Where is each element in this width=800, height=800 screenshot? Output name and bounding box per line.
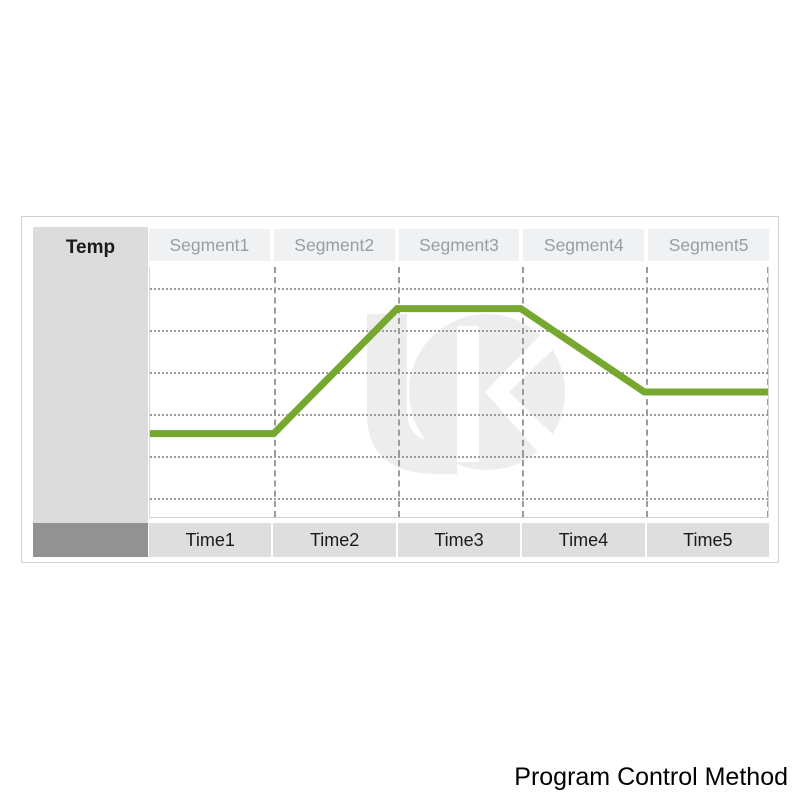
segment-header-cell-1[interactable]: Segment1 bbox=[149, 229, 270, 261]
program-control-chart-panel: Temp Segment1 Segment2 Segment3 Segment4… bbox=[21, 216, 779, 563]
temp-axis-label: Temp bbox=[33, 227, 148, 269]
segment-header-cell-3[interactable]: Segment3 bbox=[399, 229, 520, 261]
temp-axis-column: Temp bbox=[33, 227, 148, 533]
time-footer-row: Time1 Time2 Time3 Time4 Time5 bbox=[149, 523, 769, 557]
time-cell-5[interactable]: Time5 bbox=[647, 523, 769, 557]
time-cell-1[interactable]: Time1 bbox=[149, 523, 273, 557]
time-cell-2[interactable]: Time2 bbox=[273, 523, 397, 557]
time-cell-4[interactable]: Time4 bbox=[522, 523, 646, 557]
segment-header-cell-4[interactable]: Segment4 bbox=[523, 229, 644, 261]
temperature-profile-line bbox=[150, 267, 768, 517]
chart-plot-area bbox=[149, 267, 769, 518]
time-cell-3[interactable]: Time3 bbox=[398, 523, 522, 557]
segment-header-cell-5[interactable]: Segment5 bbox=[648, 229, 769, 261]
segment-header-row: Segment1 Segment2 Segment3 Segment4 Segm… bbox=[149, 229, 769, 261]
segment-header-cell-2[interactable]: Segment2 bbox=[274, 229, 395, 261]
page-caption: Program Control Method bbox=[514, 763, 788, 792]
temp-axis-footer-block bbox=[33, 523, 148, 557]
